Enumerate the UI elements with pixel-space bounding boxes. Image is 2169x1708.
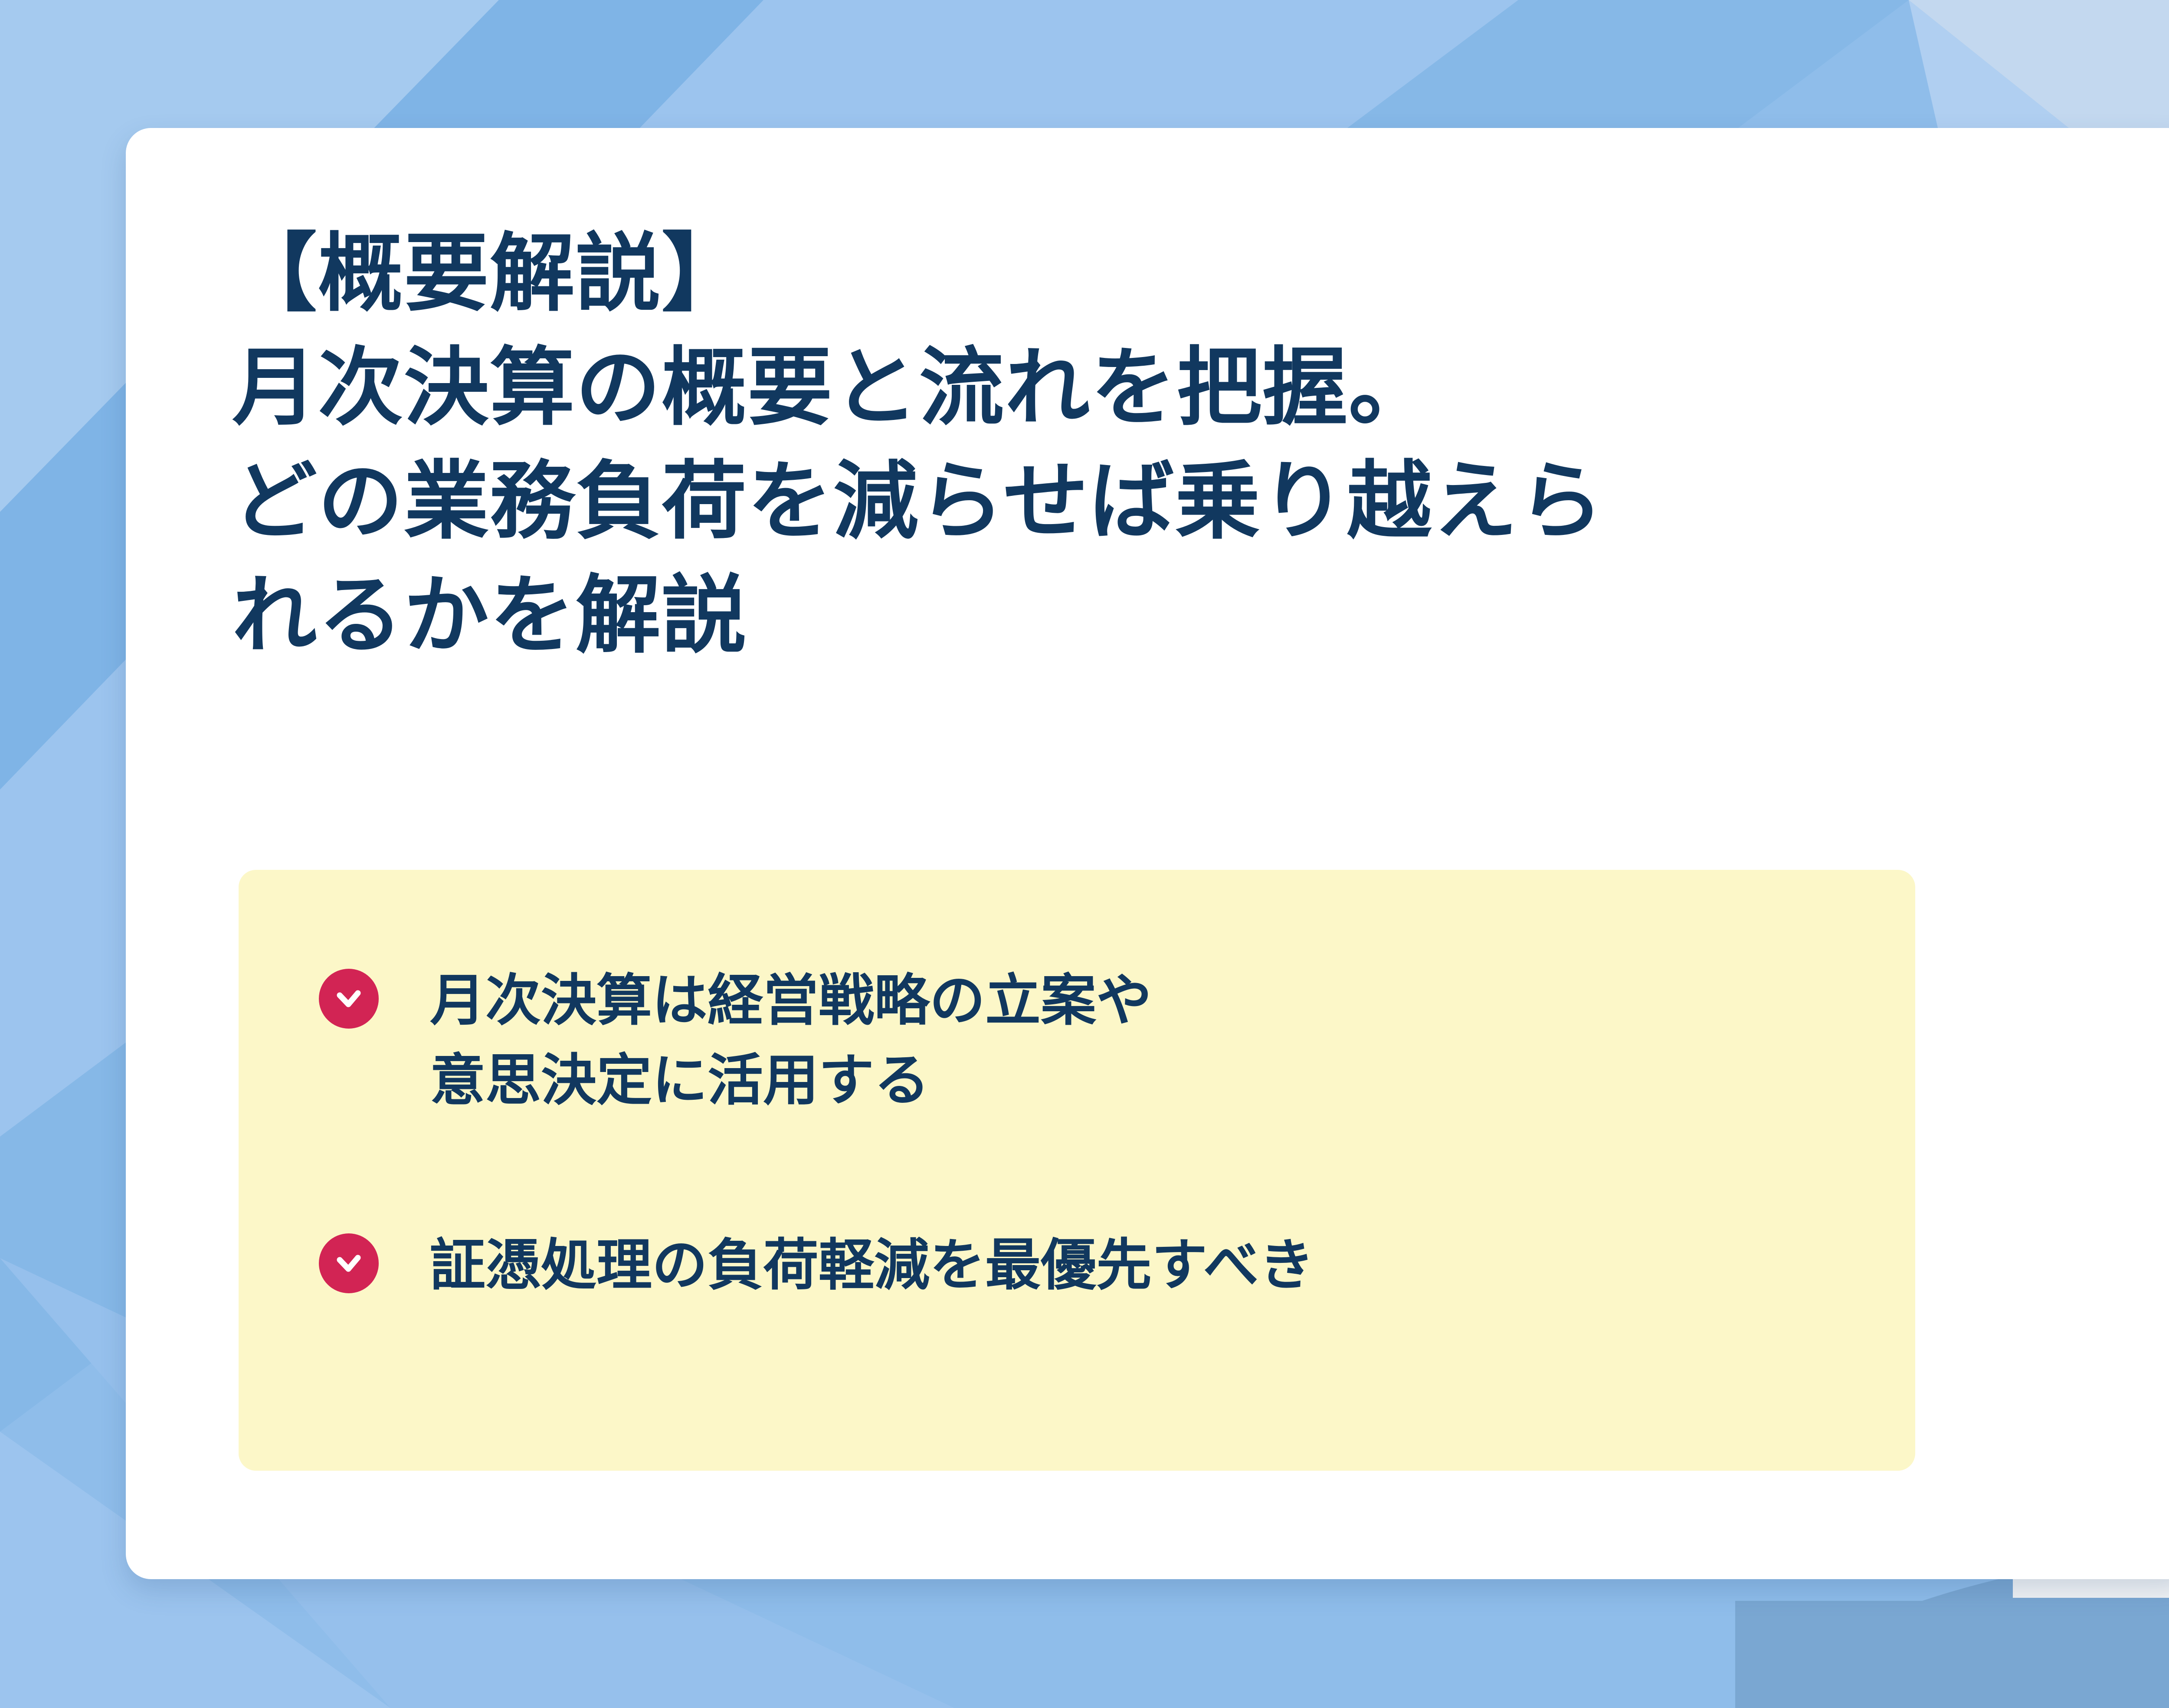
headline-line-3: どの業務負荷を減らせば乗り越えら xyxy=(232,445,2045,559)
page-title: 【概要解説】 月次決算の概要と流れを把握。 どの業務負荷を減らせば乗り越えら れ… xyxy=(232,217,2045,673)
headline-line-2: 月次決算の概要と流れを把握。 xyxy=(232,331,2045,445)
content-card: 【概要解説】 月次決算の概要と流れを把握。 どの業務負荷を減らせば乗り越えら れ… xyxy=(126,128,2169,1579)
check-circle-icon xyxy=(319,969,379,1029)
bullet-2-line-1: 証憑処理の負荷軽減を最優先すべき xyxy=(430,1226,1314,1305)
list-item: 月次決算は経営戦略の立案や 意思決定に活用する xyxy=(319,961,1152,1121)
list-item-label: 月次決算は経営戦略の立案や 意思決定に活用する xyxy=(430,961,1152,1121)
bullet-1-line-1: 月次決算は経営戦略の立案や xyxy=(430,961,1152,1041)
list-item-label: 証憑処理の負荷軽減を最優先すべき xyxy=(430,1226,1314,1305)
check-circle-icon xyxy=(319,1233,379,1293)
headline-line-4: れるかを解説 xyxy=(232,559,2045,673)
key-points-callout: 月次決算は経営戦略の立案や 意思決定に活用する 証憑処理の負荷軽減を最優先すべき xyxy=(239,870,1915,1471)
headline-line-1: 【概要解説】 xyxy=(232,217,2045,331)
list-item: 証憑処理の負荷軽減を最優先すべき xyxy=(319,1226,1314,1305)
bullet-1-line-2: 意思決定に活用する xyxy=(430,1041,1152,1121)
